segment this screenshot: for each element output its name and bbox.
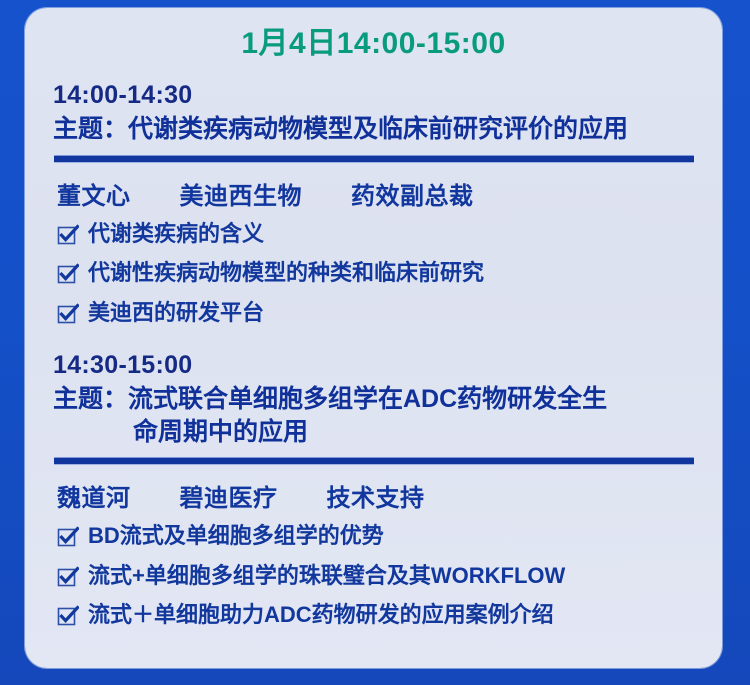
list-item: 代谢性疾病动物模型的种类和临床前研究 [57, 260, 700, 286]
session-block-2: 14:30-15:00 主题：流式联合单细胞多组学在ADC药物研发全生 命周期中… [25, 350, 722, 628]
list-item: 代谢类疾病的含义 [57, 221, 700, 247]
session-1-topic: 主题：代谢类疾病动物模型及临床前研究评价的应用 [53, 113, 700, 146]
list-item-label: 流式＋单细胞助力ADC药物研发的应用案例介绍 [88, 602, 554, 628]
checkbox-checked-icon [57, 263, 79, 285]
session-2-speaker: 魏道河 碧迪医疗 技术支持 [53, 478, 700, 513]
session-1-time: 14:00-14:30 [53, 80, 700, 111]
list-item-label: BD流式及单细胞多组学的优势 [88, 523, 384, 549]
session-1-bullet-list: 代谢类疾病的含义 代谢性疾病动物模型的种类和临床前研究 [53, 221, 700, 326]
list-item: 流式＋单细胞助力ADC药物研发的应用案例介绍 [57, 602, 700, 628]
checkbox-checked-icon [57, 566, 79, 588]
session-2-topic-continuation: 命周期中的应用 [53, 416, 700, 449]
session-2-topic: 主题：流式联合单细胞多组学在ADC药物研发全生 [53, 383, 700, 416]
page-title: 1月4日14:00-15:00 [25, 26, 722, 62]
agenda-poster: 1月4日14:00-15:00 14:00-14:30 主题：代谢类疾病动物模型… [0, 0, 750, 685]
session-1-speaker: 董文心 美迪西生物 药效副总裁 [53, 176, 700, 211]
list-item-label: 流式+单细胞多组学的珠联璧合及其WORKFLOW [88, 563, 565, 589]
checkbox-checked-icon [57, 526, 79, 548]
checkbox-checked-icon [57, 224, 79, 246]
session-block-1: 14:00-14:30 主题：代谢类疾病动物模型及临床前研究评价的应用 董文心 … [25, 80, 722, 326]
list-item: 流式+单细胞多组学的珠联璧合及其WORKFLOW [57, 563, 700, 589]
list-item: 美迪西的研发平台 [57, 300, 700, 326]
session-2-bullet-list: BD流式及单细胞多组学的优势 流式+单细胞多组学的珠联璧合及其WORKFLOW [53, 523, 700, 628]
list-item-label: 美迪西的研发平台 [88, 300, 264, 326]
checkbox-checked-icon [57, 605, 79, 627]
list-item-label: 代谢性疾病动物模型的种类和临床前研究 [88, 260, 484, 286]
session-1-divider [54, 155, 694, 163]
checkbox-checked-icon [57, 303, 79, 325]
agenda-card: 1月4日14:00-15:00 14:00-14:30 主题：代谢类疾病动物模型… [25, 8, 722, 668]
session-2-time: 14:30-15:00 [53, 350, 700, 381]
session-2-divider [54, 457, 694, 465]
list-item-label: 代谢类疾病的含义 [88, 221, 264, 247]
list-item: BD流式及单细胞多组学的优势 [57, 523, 700, 549]
